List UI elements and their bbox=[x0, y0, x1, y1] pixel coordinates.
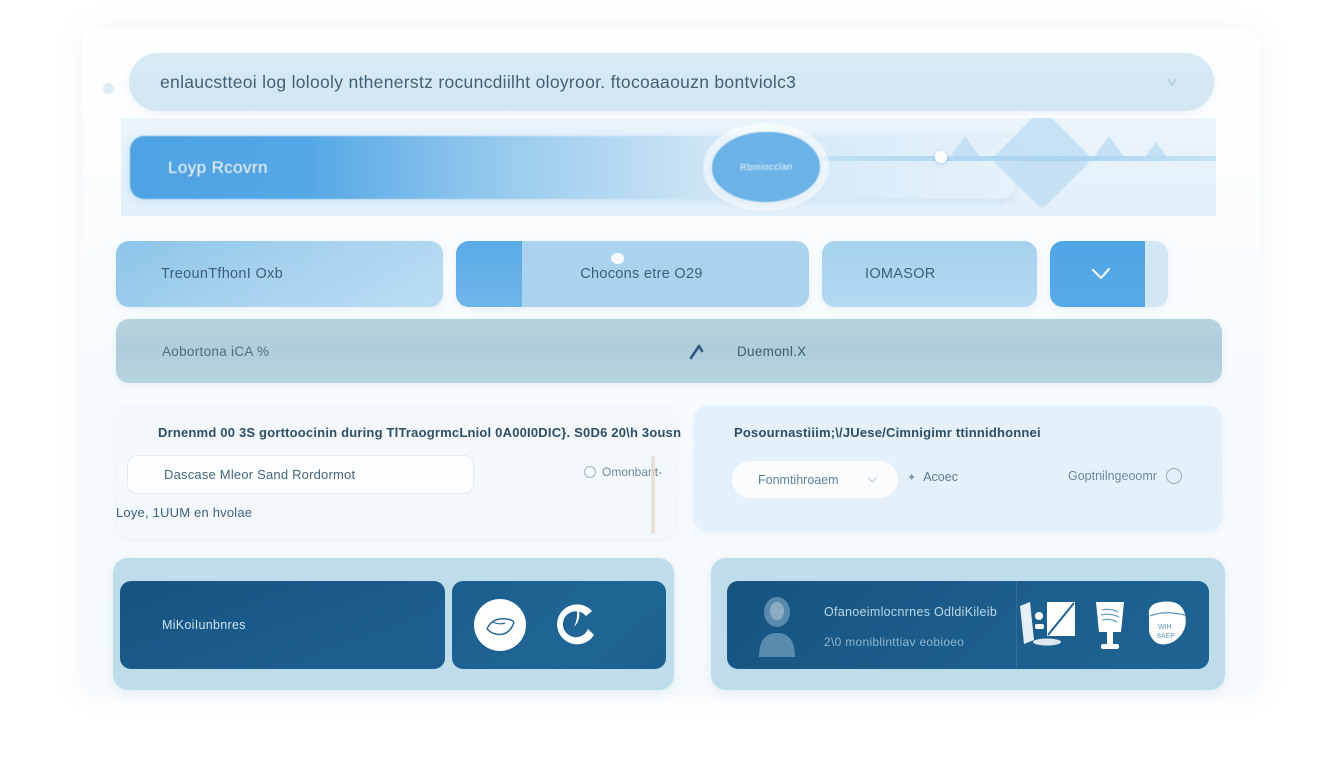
option-toggle-label: Goptnilngeoomr bbox=[1068, 469, 1157, 483]
caret-up-icon[interactable] bbox=[688, 342, 710, 360]
toolbar-left-label: Aobortona iCA % bbox=[162, 344, 269, 359]
bottom-right-icon-group: WIH 8AEP bbox=[1017, 594, 1193, 656]
circle-toggle-icon[interactable] bbox=[1166, 468, 1182, 484]
tab-card-3[interactable]: IOMASOR bbox=[822, 241, 1037, 307]
bottom-left-card-label: MiKoiIunbnres bbox=[162, 618, 246, 632]
tab-card-1-label: TreounTfhonI Oxb bbox=[161, 266, 283, 282]
search-input-placeholder: Dascase Mleor Sand Rordormot bbox=[164, 467, 355, 482]
tab-card-1[interactable]: TreounTfhonI Oxb bbox=[116, 241, 443, 307]
bottom-right-container: Ofanoeimlocnrnes OdldiKileib 2\0 monibli… bbox=[711, 558, 1225, 690]
left-panel: Drnenmd 00 3S gorttoocinin during TlTrao… bbox=[116, 406, 676, 539]
tab-card-2-label: Chocons etre O29 bbox=[580, 266, 702, 282]
left-panel-caption: Loye, 1UUM en hvolae bbox=[116, 505, 252, 520]
top-search-bar[interactable]: enlaucstteoi log lolooly nthenerstz rocu… bbox=[129, 53, 1214, 111]
tab-card-4-dropdown[interactable] bbox=[1050, 241, 1168, 307]
star-icon: ✦ bbox=[907, 471, 916, 484]
tab-card-2[interactable]: Chocons etre O29 bbox=[456, 241, 809, 307]
svg-text:WIH: WIH bbox=[1158, 624, 1172, 631]
monitor-icon[interactable] bbox=[1017, 594, 1079, 656]
lamp-icon[interactable] bbox=[1088, 594, 1132, 656]
bottom-left-container: MiKoiIunbnres bbox=[113, 558, 674, 690]
left-panel-heading: Drnenmd 00 3S gorttoocinin during TlTrao… bbox=[158, 425, 681, 440]
hero-badge[interactable]: Rbmiocclan bbox=[712, 132, 820, 202]
badge-icon[interactable]: WIH 8AEP bbox=[1141, 596, 1193, 654]
bottom-right-banner[interactable]: Ofanoeimlocnrnes OdldiKileib 2\0 monibli… bbox=[727, 581, 1209, 669]
hero-slider-track[interactable] bbox=[821, 156, 1216, 161]
section-toolbar[interactable]: Aobortona iCA % Duemonl.X bbox=[116, 319, 1222, 383]
svg-text:8AEP: 8AEP bbox=[1157, 633, 1175, 640]
right-panel: Posournastiiim;\/JUese/Cimnigimr ttinnid… bbox=[694, 406, 1222, 531]
hand-gesture-icon[interactable] bbox=[474, 599, 526, 651]
option-toggle[interactable]: Goptnilngeoomr bbox=[1068, 468, 1182, 484]
c-shape-icon[interactable] bbox=[548, 597, 604, 653]
bottom-left-card-icons[interactable] bbox=[452, 581, 666, 669]
right-panel-heading: Posournastiiim;\/JUese/Cimnigimr ttinnid… bbox=[734, 425, 1041, 440]
dropdown-chip-label: Fonmtihroaem bbox=[758, 473, 839, 487]
sidebar-dot-indicator bbox=[103, 83, 114, 94]
hero-slider-handle[interactable] bbox=[935, 151, 947, 163]
hero-badge-label: Rbmiocclan bbox=[740, 161, 793, 173]
hero-button-label: Loyp Rcovrn bbox=[168, 158, 268, 178]
circle-icon bbox=[584, 466, 596, 478]
tab-card-3-label: IOMASOR bbox=[865, 266, 936, 282]
dropdown-chip[interactable]: Fonmtihroaem bbox=[732, 461, 898, 498]
chevron-down-icon[interactable] bbox=[867, 476, 878, 484]
search-input[interactable]: Dascase Mleor Sand Rordormot bbox=[127, 455, 474, 494]
chevron-down-icon[interactable] bbox=[1090, 266, 1112, 282]
user-avatar-icon bbox=[749, 595, 805, 657]
bottom-left-card-primary[interactable]: MiKoiIunbnres bbox=[120, 581, 445, 669]
hero-banner: Loyp Rcovrn Rbmiocclan bbox=[121, 118, 1216, 216]
toolbar-center-group[interactable]: Duemonl.X bbox=[688, 342, 806, 360]
tab-card-row: TreounTfhonI Oxb Chocons etre O29 IOMASO… bbox=[116, 241, 1216, 307]
hero-primary-button[interactable]: Loyp Rcovrn bbox=[130, 136, 1015, 199]
vertical-scrollbar[interactable] bbox=[651, 456, 655, 534]
chip-after-group[interactable]: ✦ Acoec bbox=[907, 470, 958, 484]
chip-after-label: Acoec bbox=[923, 470, 958, 484]
bottom-right-title: Ofanoeimlocnrnes OdldiKileib bbox=[824, 605, 997, 619]
top-search-text: enlaucstteoi log lolooly nthenerstz rocu… bbox=[160, 72, 796, 93]
drop-icon bbox=[611, 253, 624, 264]
bottom-right-subtitle: 2\0 moniblinttiav eobioeo bbox=[824, 635, 964, 649]
chevron-down-icon[interactable] bbox=[1166, 75, 1178, 89]
toolbar-center-label: Duemonl.X bbox=[737, 344, 806, 359]
